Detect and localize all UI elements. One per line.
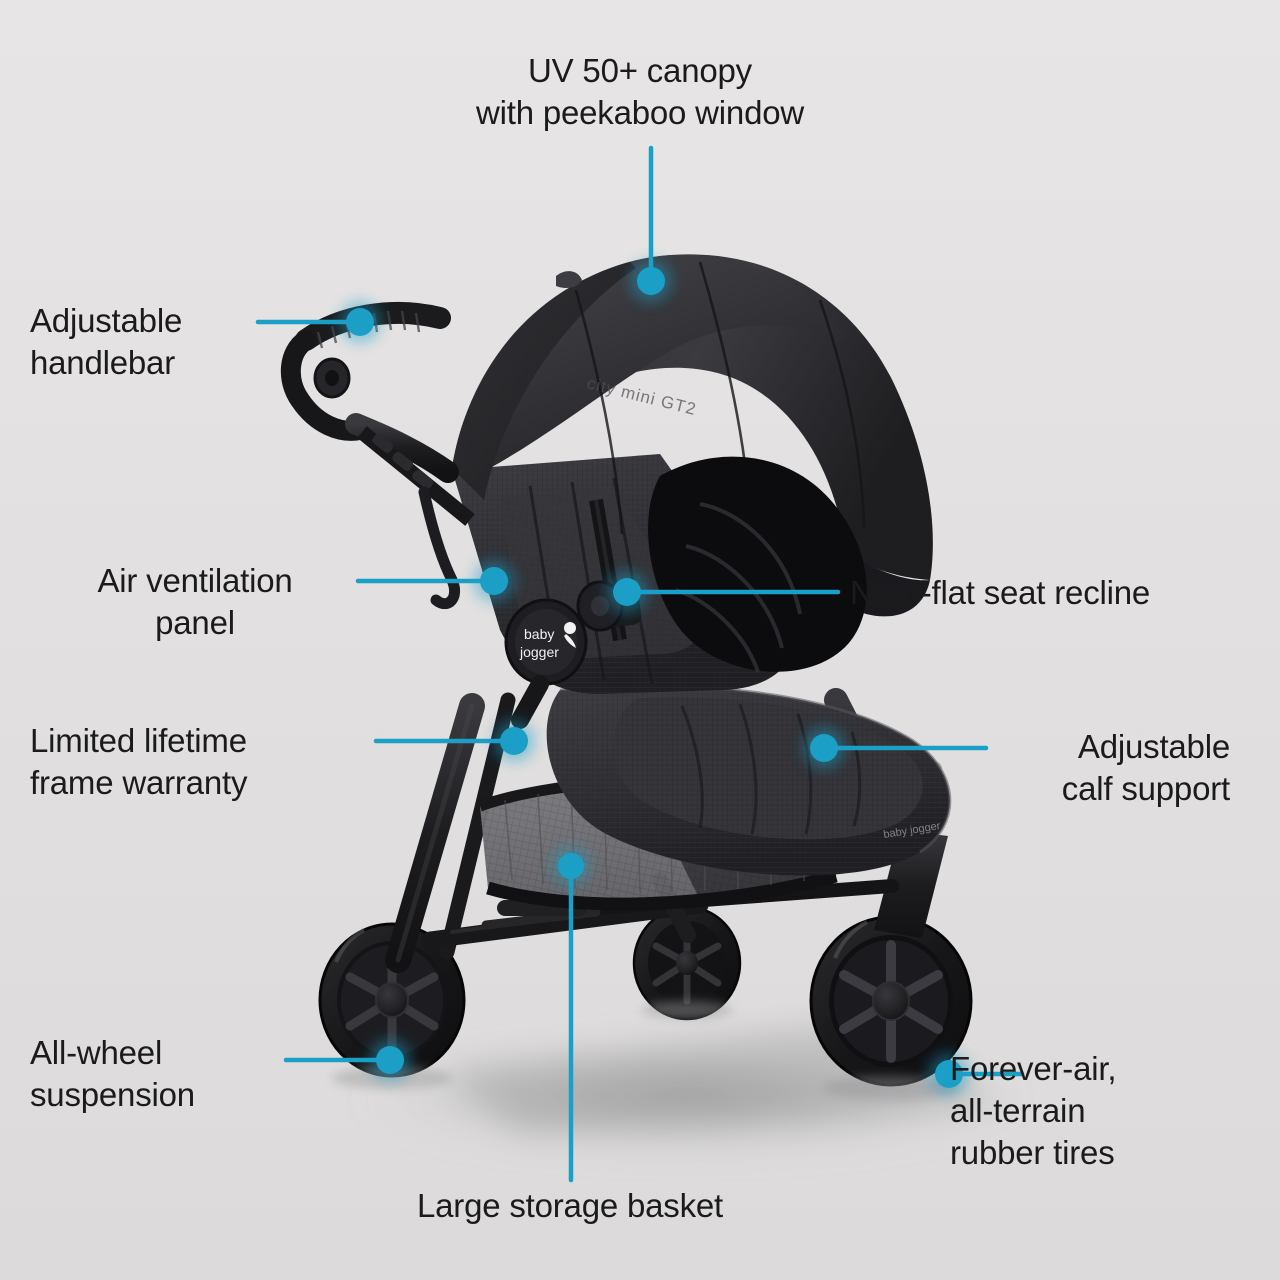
infographic-page: baby jogger	[0, 0, 1280, 1280]
callout-label-tires: Forever-air, all-terrain rubber tires	[950, 1048, 1230, 1175]
callout-label-air-ventilation: Air ventilation panel	[40, 560, 350, 644]
callout-label-handlebar: Adjustable handlebar	[30, 300, 300, 384]
callout-label-suspension: All-wheel suspension	[30, 1032, 300, 1116]
callout-label-warranty: Limited lifetime frame warranty	[30, 720, 370, 804]
brand-logo-line2: jogger	[519, 644, 559, 660]
callout-label-canopy: UV 50+ canopy with peekaboo window	[380, 50, 900, 134]
callout-label-calf-support: Adjustable calf support	[910, 726, 1230, 810]
callout-label-seat-recline: Near-flat seat recline	[850, 572, 1250, 614]
brand-logo-line1: baby	[524, 626, 554, 642]
callout-label-storage-basket: Large storage basket	[340, 1185, 800, 1227]
